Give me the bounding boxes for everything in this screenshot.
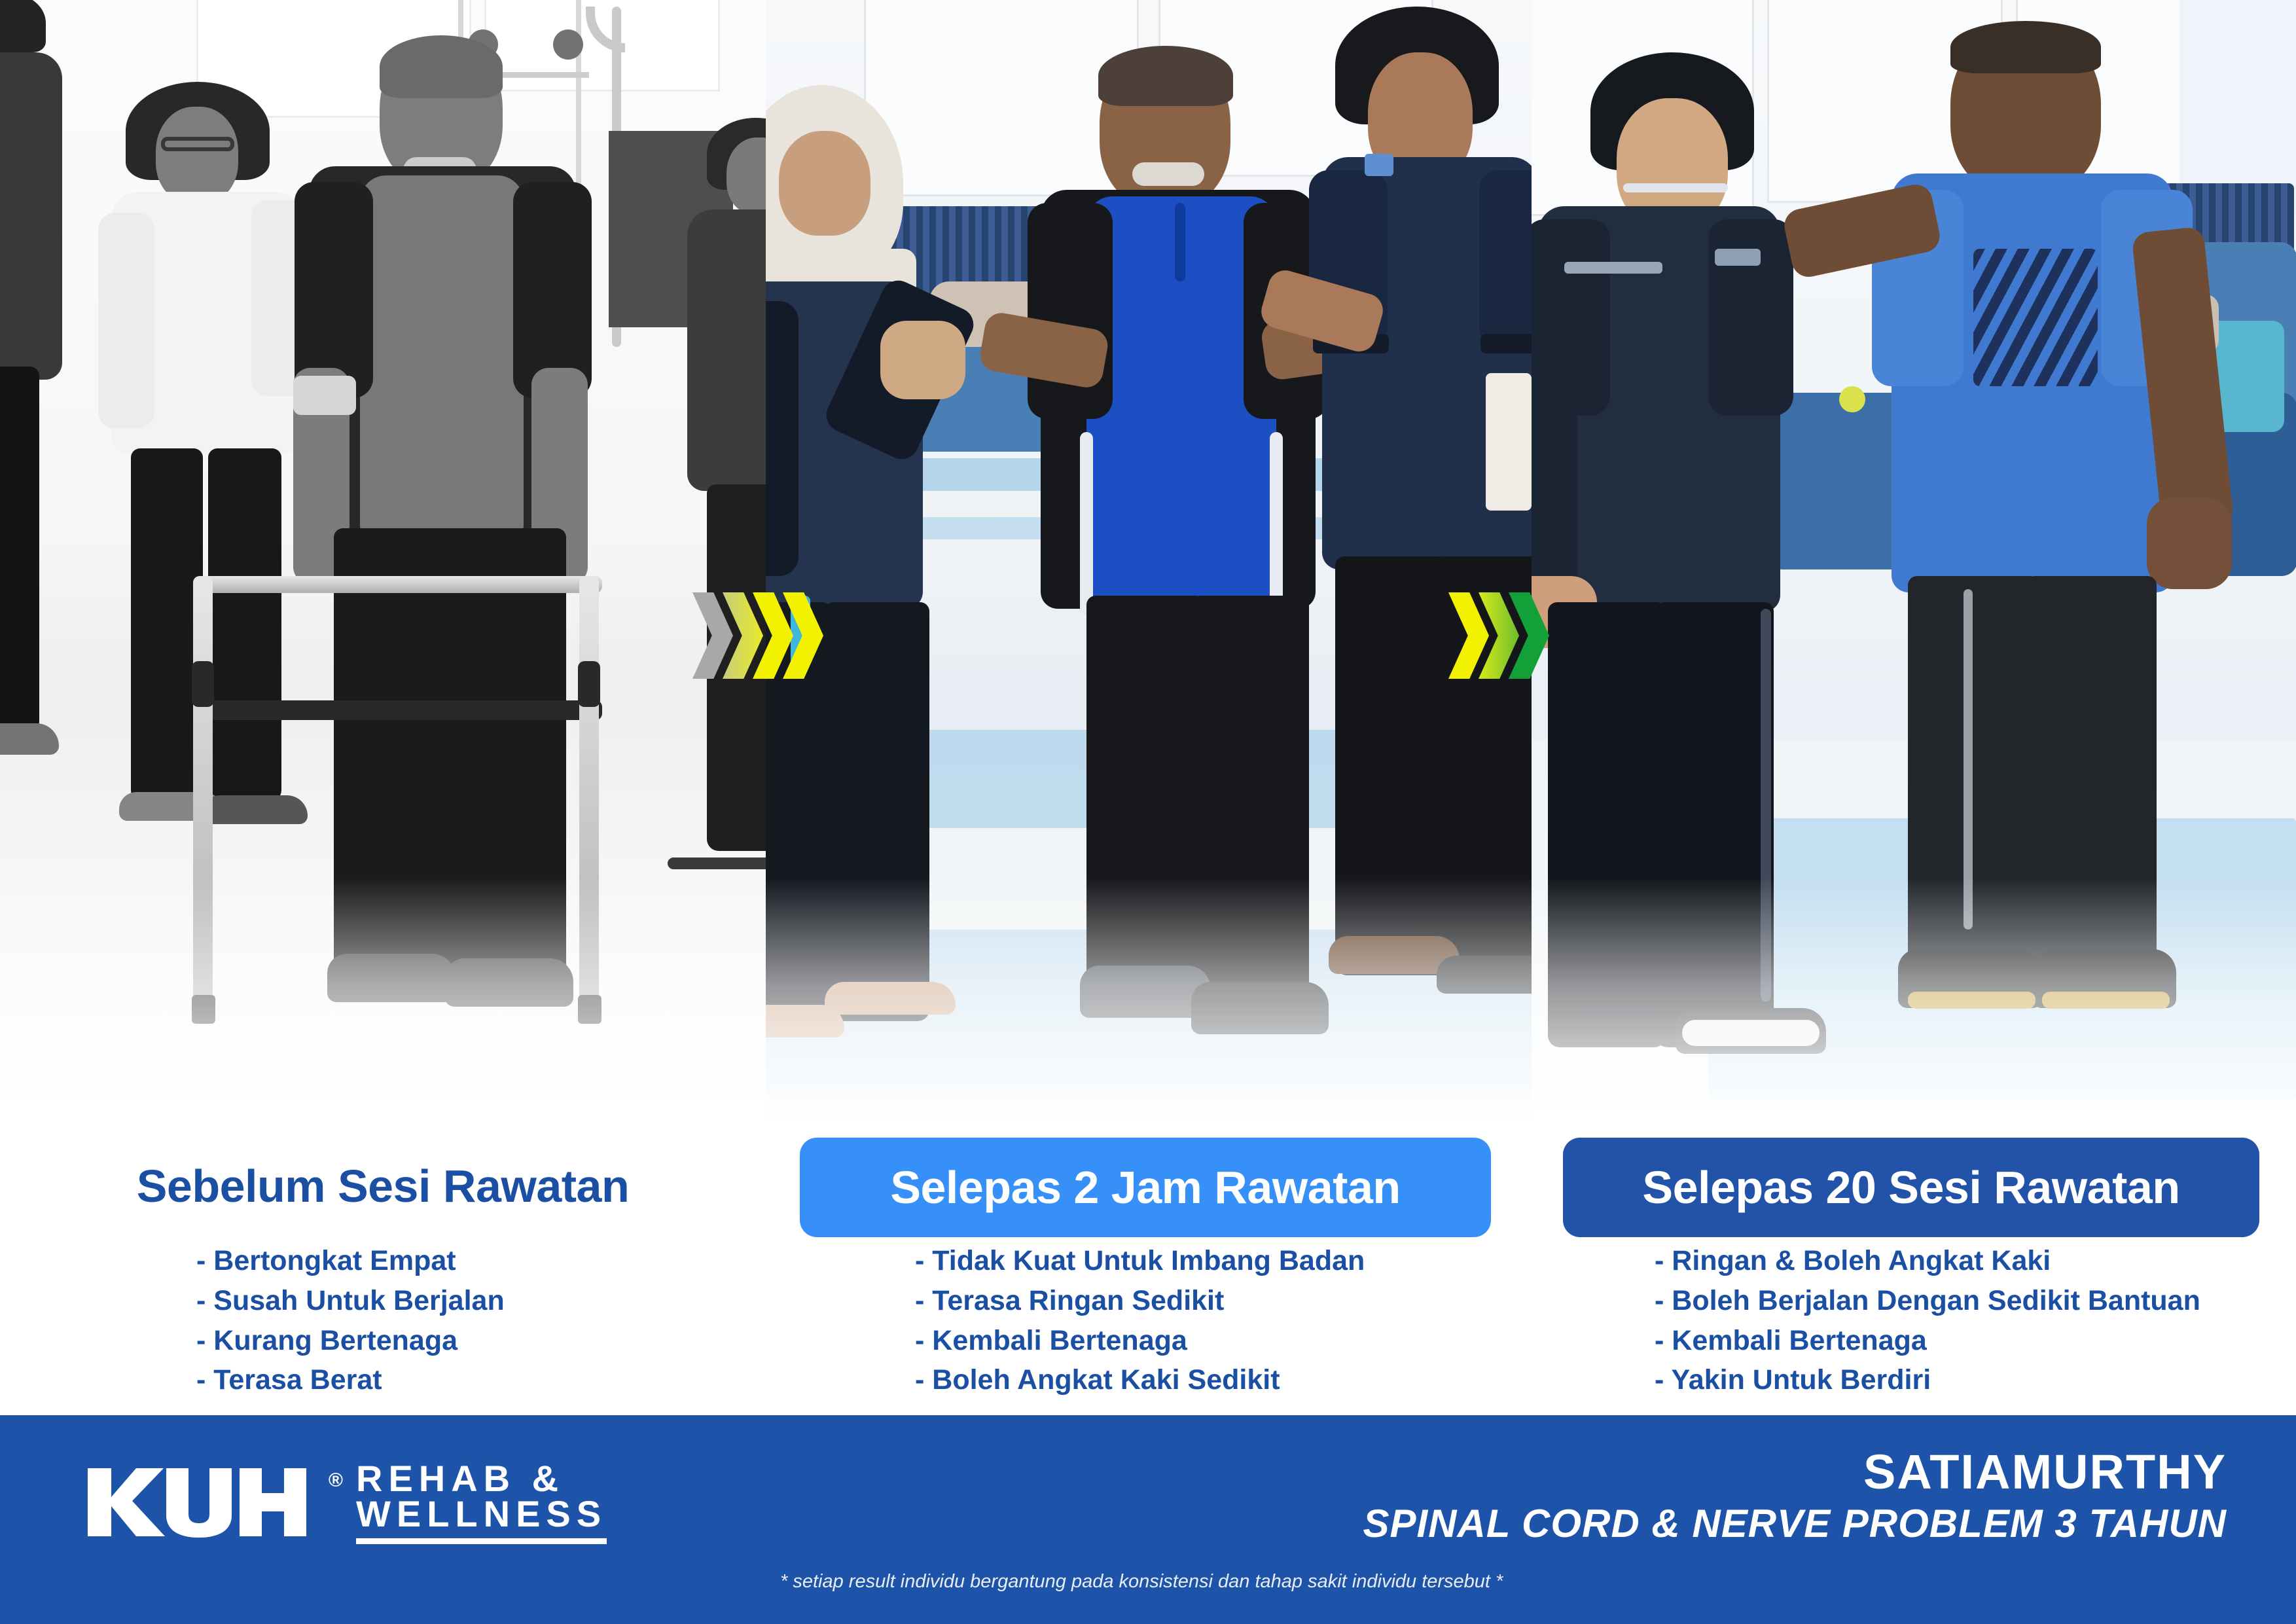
chevron-right-icon [1448, 592, 1489, 679]
chevron-right-icon [692, 592, 733, 679]
progress-arrow-group-2 [1448, 592, 1539, 679]
header-title-after-20-sessions: Selepas 20 Sesi Rawatan [1642, 1164, 2179, 1210]
panel-row: Sebelum Sesi Rawatan - Bertongkat Empat … [0, 0, 2296, 1415]
testimonial-poster: Sebelum Sesi Rawatan - Bertongkat Empat … [0, 0, 2296, 1624]
bullet-item: - Yakin Untuk Berdiri [1655, 1363, 2296, 1397]
registered-trademark-icon: ® [329, 1470, 343, 1492]
bullet-item: - Terasa Ringan Sedikit [915, 1284, 1532, 1318]
bullet-item: - Susah Untuk Berjalan [196, 1284, 766, 1318]
header-card-before: Sebelum Sesi Rawatan [41, 1135, 725, 1237]
progress-arrow-group-1 [692, 592, 813, 679]
header-card-after-2-hours: Selepas 2 Jam Rawatan [800, 1138, 1491, 1237]
panel-before: Sebelum Sesi Rawatan - Bertongkat Empat … [0, 0, 766, 1415]
brand-logo: ® REHAB & WELLNESS [84, 1461, 607, 1544]
bullet-list-after-20-sessions: - Ringan & Boleh Angkat Kaki - Boleh Ber… [1532, 1244, 2296, 1397]
patient-info: SATIAMURTHY SPINAL CORD & NERVE PROBLEM … [1363, 1448, 2227, 1543]
bullet-item: - Tidak Kuat Untuk Imbang Badan [915, 1244, 1532, 1278]
bullet-item: - Ringan & Boleh Angkat Kaki [1655, 1244, 2296, 1278]
bullet-item: - Boleh Berjalan Dengan Sedikit Bantuan [1655, 1284, 2296, 1318]
photo-after-2-hours [766, 0, 1532, 1159]
bullet-item: - Kurang Bertenaga [196, 1324, 766, 1358]
header-title-before: Sebelum Sesi Rawatan [137, 1163, 630, 1209]
photo-before [0, 0, 766, 1159]
bullet-list-after-2-hours: - Tidak Kuat Untuk Imbang Badan - Terasa… [766, 1244, 1532, 1397]
patient-name: SATIAMURTHY [1363, 1448, 2227, 1496]
panel-after-2-hours: Selepas 2 Jam Rawatan - Tidak Kuat Untuk… [766, 0, 1532, 1415]
bullet-item: - Kembali Bertenaga [915, 1324, 1532, 1358]
header-card-after-20-sessions: Selepas 20 Sesi Rawatan [1563, 1138, 2259, 1237]
photo-after-20-sessions [1532, 0, 2296, 1159]
header-title-after-2-hours: Selepas 2 Jam Rawatan [890, 1164, 1400, 1210]
brand-wordmark-line2: WELLNESS [356, 1496, 607, 1544]
disclaimer-text: * setiap result individu bergantung pada… [780, 1571, 1503, 1593]
patient-condition: SPINAL CORD & NERVE PROBLEM 3 TAHUN [1363, 1504, 2227, 1543]
brand-wordmark: REHAB & WELLNESS [356, 1461, 607, 1544]
bullet-item: - Kembali Bertenaga [1655, 1324, 2296, 1358]
brand-wordmark-line1: REHAB & [356, 1461, 607, 1496]
bullet-list-before: - Bertongkat Empat - Susah Untuk Berjala… [0, 1244, 766, 1397]
bullet-item: - Bertongkat Empat [196, 1244, 766, 1278]
bullet-item: - Terasa Berat [196, 1363, 766, 1397]
panel-after-20-sessions: Selepas 20 Sesi Rawatan - Ringan & Boleh… [1532, 0, 2296, 1415]
bullet-item: - Boleh Angkat Kaki Sedikit [915, 1363, 1532, 1397]
kuhen-logo-icon: ® [84, 1466, 326, 1539]
